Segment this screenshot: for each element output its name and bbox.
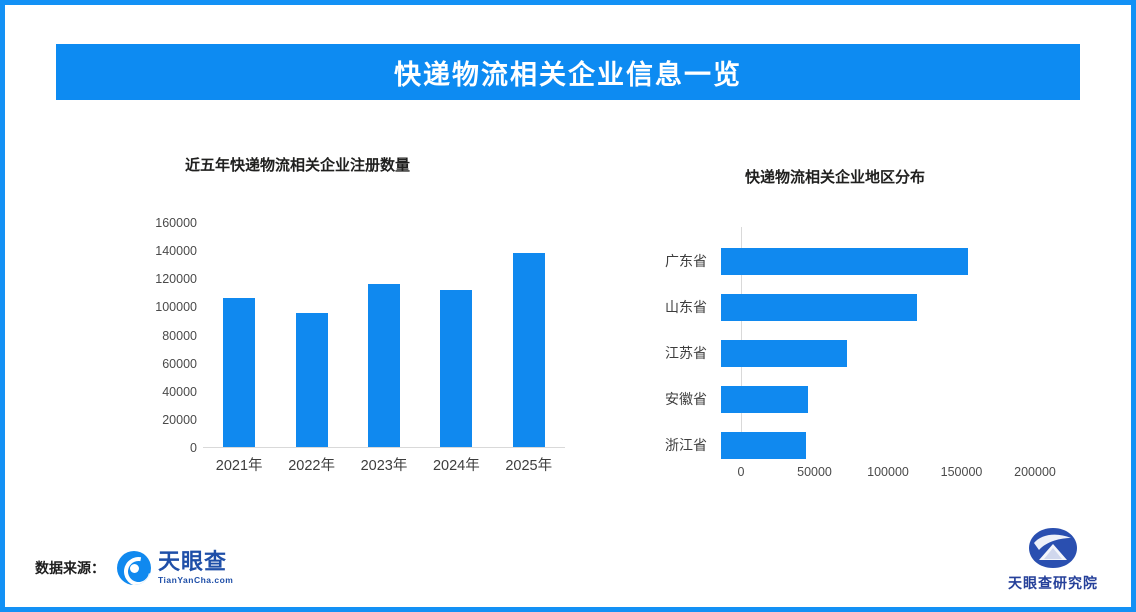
y-axis-tick: 20000 [127, 413, 197, 427]
horizontal-bar-row: 安徽省 [625, 385, 1055, 413]
category-label: 浙江省 [625, 435, 721, 455]
horizontal-bar-row: 江苏省 [625, 339, 1055, 367]
vertical-bar-slot [209, 223, 269, 447]
tianyancha-wordmark: 天眼查 TianYanCha.com [158, 551, 233, 585]
tianyancha-logo: 天眼查 TianYanCha.com [117, 551, 233, 585]
x-axis-tick-label: 2022年 [282, 454, 342, 475]
vertical-bar-slot [426, 223, 486, 447]
vertical-bar-slot [354, 223, 414, 447]
horizontal-bar-row: 山东省 [625, 293, 1055, 321]
tianyancha-eye-icon [117, 551, 151, 585]
y-axis-tick: 100000 [127, 300, 197, 314]
horizontal-bar[interactable] [721, 294, 917, 321]
chart-panel-registrations: 近五年快递物流相关企业注册数量 160000140000120000100000… [65, 145, 585, 515]
x-axis-tick-label: 2023年 [354, 454, 414, 475]
research-institute-icon [1027, 526, 1079, 570]
vertical-bar[interactable] [296, 313, 328, 447]
vertical-chart-x-axis: 2021年2022年2023年2024年2025年 [203, 454, 565, 475]
x-axis-tick: 50000 [797, 465, 832, 479]
page-title: 快递物流相关企业信息一览 [394, 53, 742, 92]
category-label: 江苏省 [625, 343, 721, 363]
vertical-bar[interactable] [368, 284, 400, 447]
vertical-bar-slot [282, 223, 342, 447]
category-label: 山东省 [625, 297, 721, 317]
category-label: 广东省 [625, 251, 721, 271]
horizontal-bar[interactable] [721, 248, 968, 275]
horizontal-bar[interactable] [721, 386, 808, 413]
x-axis-tick-label: 2021年 [209, 454, 269, 475]
x-axis-tick: 150000 [941, 465, 983, 479]
y-axis-tick: 120000 [127, 272, 197, 286]
y-axis-tick: 80000 [127, 329, 197, 343]
tianyancha-name-cn: 天眼查 [158, 551, 233, 573]
horizontal-bar-chart: 广东省山东省江苏省安徽省浙江省 050000100000150000200000 [625, 235, 1055, 505]
chart-title-region-distribution: 快递物流相关企业地区分布 [745, 166, 1075, 187]
horizontal-bar[interactable] [721, 340, 847, 367]
y-axis-tick: 60000 [127, 357, 197, 371]
vertical-bars-group [203, 223, 565, 447]
horizontal-chart-x-axis: 050000100000150000200000 [741, 455, 1035, 475]
category-label: 安徽省 [625, 389, 721, 409]
vertical-bar-slot [499, 223, 559, 447]
infographic-page: 快递物流相关企业信息一览 近五年快递物流相关企业注册数量 16000014000… [0, 0, 1136, 612]
y-axis-tick: 160000 [127, 216, 197, 230]
vertical-bar[interactable] [513, 253, 545, 447]
y-axis-tick: 0 [127, 441, 197, 455]
y-axis-tick: 140000 [127, 244, 197, 258]
y-axis-tick: 40000 [127, 385, 197, 399]
chart-title-registrations: 近五年快递物流相关企业注册数量 [185, 154, 585, 175]
chart-panel-region-distribution: 快递物流相关企业地区分布 广东省山东省江苏省安徽省浙江省 05000010000… [605, 145, 1075, 515]
title-banner: 快递物流相关企业信息一览 [56, 44, 1080, 100]
vertical-bar-chart: 1600001400001200001000008000060000400002… [143, 223, 565, 468]
brand-name: 天眼查研究院 [1008, 573, 1098, 593]
brand-footer: 天眼查研究院 [1003, 526, 1103, 593]
x-axis-tick: 200000 [1014, 465, 1056, 479]
data-source: 数据来源： 天眼查 TianYanCha.com [35, 551, 233, 585]
tianyancha-name-en: TianYanCha.com [158, 576, 233, 585]
vertical-bar[interactable] [440, 290, 472, 448]
x-axis-tick: 100000 [867, 465, 909, 479]
vertical-bar[interactable] [223, 298, 255, 447]
x-axis-tick-label: 2025年 [499, 454, 559, 475]
vertical-chart-plot-area [203, 223, 565, 448]
x-axis-tick: 0 [738, 465, 745, 479]
x-axis-tick-label: 2024年 [426, 454, 486, 475]
data-source-label: 数据来源： [35, 558, 105, 578]
horizontal-bar-row: 广东省 [625, 247, 1055, 275]
